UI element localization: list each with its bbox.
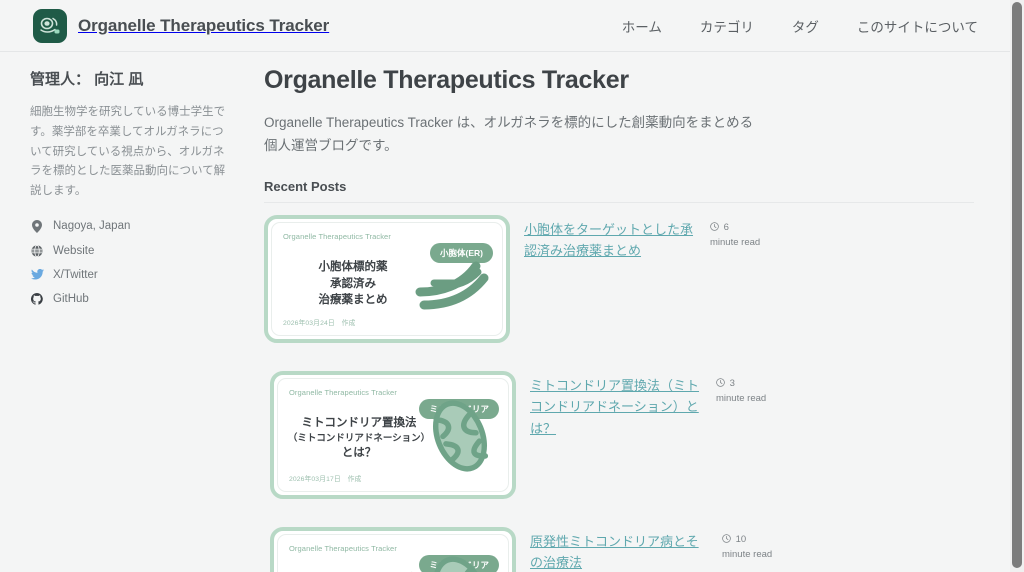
main-content: Organelle Therapeutics Tracker Organelle… xyxy=(258,52,1014,572)
page-lede: Organelle Therapeutics Tracker は、オルガネラを標… xyxy=(264,111,754,157)
read-time: 6 minute read xyxy=(710,219,762,261)
map-pin-icon xyxy=(30,220,44,233)
post-meta: 原発性ミトコンドリア病とその治療法 10 minute read xyxy=(530,527,974,572)
nav-tags[interactable]: タグ xyxy=(792,16,819,36)
thumbnail-title-line: ミトコンドリア置換法 xyxy=(284,415,434,431)
scrollbar-thumb[interactable] xyxy=(1012,2,1022,568)
sidebar-location-label: Nagoya, Japan xyxy=(53,220,130,232)
site-brand[interactable]: Organelle Therapeutics Tracker xyxy=(33,9,329,43)
thumbnail-title: ミトコンドリア置換法 （ミトコンドリアドネーション） とは？ xyxy=(284,415,434,461)
read-time-number: 3 xyxy=(730,378,735,389)
thumbnail-title-line: 治療薬まとめ xyxy=(282,292,424,308)
post-meta: ミトコンドリア置換法（ミトコンドリアドネーション）とは？ 3 minute re… xyxy=(530,371,974,438)
mitochondrion-illustration xyxy=(422,550,498,572)
globe-icon xyxy=(30,245,44,257)
site-title: Organelle Therapeutics Tracker xyxy=(78,16,329,36)
author-links: Nagoya, Japan Website X/Twitter GitHub xyxy=(30,220,228,305)
read-time-number: 6 xyxy=(724,222,729,233)
github-icon xyxy=(30,293,44,305)
nav-about[interactable]: このサイトについて xyxy=(857,16,978,36)
sidebar-link-twitter[interactable]: X/Twitter xyxy=(30,269,228,281)
primary-nav: ホーム カテゴリ タグ このサイトについて xyxy=(622,16,978,36)
post-meta: 小胞体をターゲットとした承認済み治療薬まとめ 6 minute read xyxy=(524,215,974,261)
clock-icon xyxy=(710,223,722,234)
author-name: 管理人： 向江 凪 xyxy=(30,68,228,89)
post-thumbnail: Organelle Therapeutics Tracker ミトコンドリア 原… xyxy=(277,534,509,572)
recent-posts-heading: Recent Posts xyxy=(264,179,974,203)
sidebar-link-github-label: GitHub xyxy=(53,293,89,305)
read-time: 10 minute read xyxy=(722,531,808,572)
nav-home[interactable]: ホーム xyxy=(622,16,662,36)
thumbnail-title-line: 承認済み xyxy=(282,276,424,292)
thumbnail-date: 2026年03月24日 作成 xyxy=(283,317,355,327)
read-time-unit: minute read xyxy=(710,236,762,250)
post-title-link[interactable]: 原発性ミトコンドリア病とその治療法 xyxy=(530,531,708,572)
post-thumbnail: Organelle Therapeutics Tracker 小胞体(ER) 小… xyxy=(271,222,503,336)
thumbnail-title-line: とは？ xyxy=(284,445,434,461)
sidebar-link-website-label: Website xyxy=(53,245,94,257)
thumbnail-brand: Organelle Therapeutics Tracker xyxy=(289,544,397,553)
sidebar-location[interactable]: Nagoya, Japan xyxy=(30,220,228,233)
read-time-unit: minute read xyxy=(722,548,808,562)
twitter-bird-icon xyxy=(30,269,44,280)
nav-categories[interactable]: カテゴリ xyxy=(700,16,754,36)
page-title: Organelle Therapeutics Tracker xyxy=(264,66,974,95)
post-thumbnail: Organelle Therapeutics Tracker ミトコンドリア ミ… xyxy=(277,378,509,492)
thumbnail-brand: Organelle Therapeutics Tracker xyxy=(283,232,391,241)
thumbnail-title-line: （ミトコンドリアドネーション） xyxy=(284,432,434,445)
author-sidebar: 管理人： 向江 凪 細胞生物学を研究している博士学生です。薬学部を卒業してオルガ… xyxy=(0,52,258,572)
post-thumbnail-link[interactable]: Organelle Therapeutics Tracker ミトコンドリア 原… xyxy=(270,527,516,572)
post-thumbnail-link[interactable]: Organelle Therapeutics Tracker ミトコンドリア ミ… xyxy=(270,371,516,499)
sidebar-link-twitter-label: X/Twitter xyxy=(53,269,98,281)
endoplasmic-reticulum-illustration xyxy=(410,252,496,325)
thumbnail-title: 小胞体標的薬 承認済み 治療薬まとめ xyxy=(282,259,424,308)
thumbnail-brand: Organelle Therapeutics Tracker xyxy=(289,388,397,397)
clock-icon xyxy=(722,535,734,546)
mitochondrion-illustration xyxy=(422,394,498,483)
post-list-item: Organelle Therapeutics Tracker 小胞体(ER) 小… xyxy=(264,215,974,343)
post-thumbnail-link[interactable]: Organelle Therapeutics Tracker 小胞体(ER) 小… xyxy=(264,215,510,343)
clock-icon xyxy=(716,379,728,390)
read-time: 3 minute read xyxy=(716,375,768,438)
masthead: Organelle Therapeutics Tracker ホーム カテゴリ … xyxy=(0,0,1014,52)
sidebar-link-website[interactable]: Website xyxy=(30,245,228,257)
sidebar-link-github[interactable]: GitHub xyxy=(30,293,228,305)
page-scrollbar[interactable] xyxy=(1010,0,1024,572)
post-list-item: Organelle Therapeutics Tracker ミトコンドリア ミ… xyxy=(270,371,974,499)
read-time-number: 10 xyxy=(736,534,747,545)
thumbnail-title-line: 小胞体標的薬 xyxy=(282,259,424,275)
post-title-link[interactable]: 小胞体をターゲットとした承認済み治療薬まとめ xyxy=(524,219,696,261)
post-list-item: Organelle Therapeutics Tracker ミトコンドリア 原… xyxy=(270,527,974,572)
author-bio: 細胞生物学を研究している博士学生です。薬学部を卒業してオルガネラについて研究して… xyxy=(30,103,228,202)
cell-organelle-logo-icon xyxy=(33,9,67,43)
thumbnail-date: 2026年03月17日 作成 xyxy=(289,473,361,483)
read-time-unit: minute read xyxy=(716,392,768,406)
post-title-link[interactable]: ミトコンドリア置換法（ミトコンドリアドネーション）とは？ xyxy=(530,375,702,438)
